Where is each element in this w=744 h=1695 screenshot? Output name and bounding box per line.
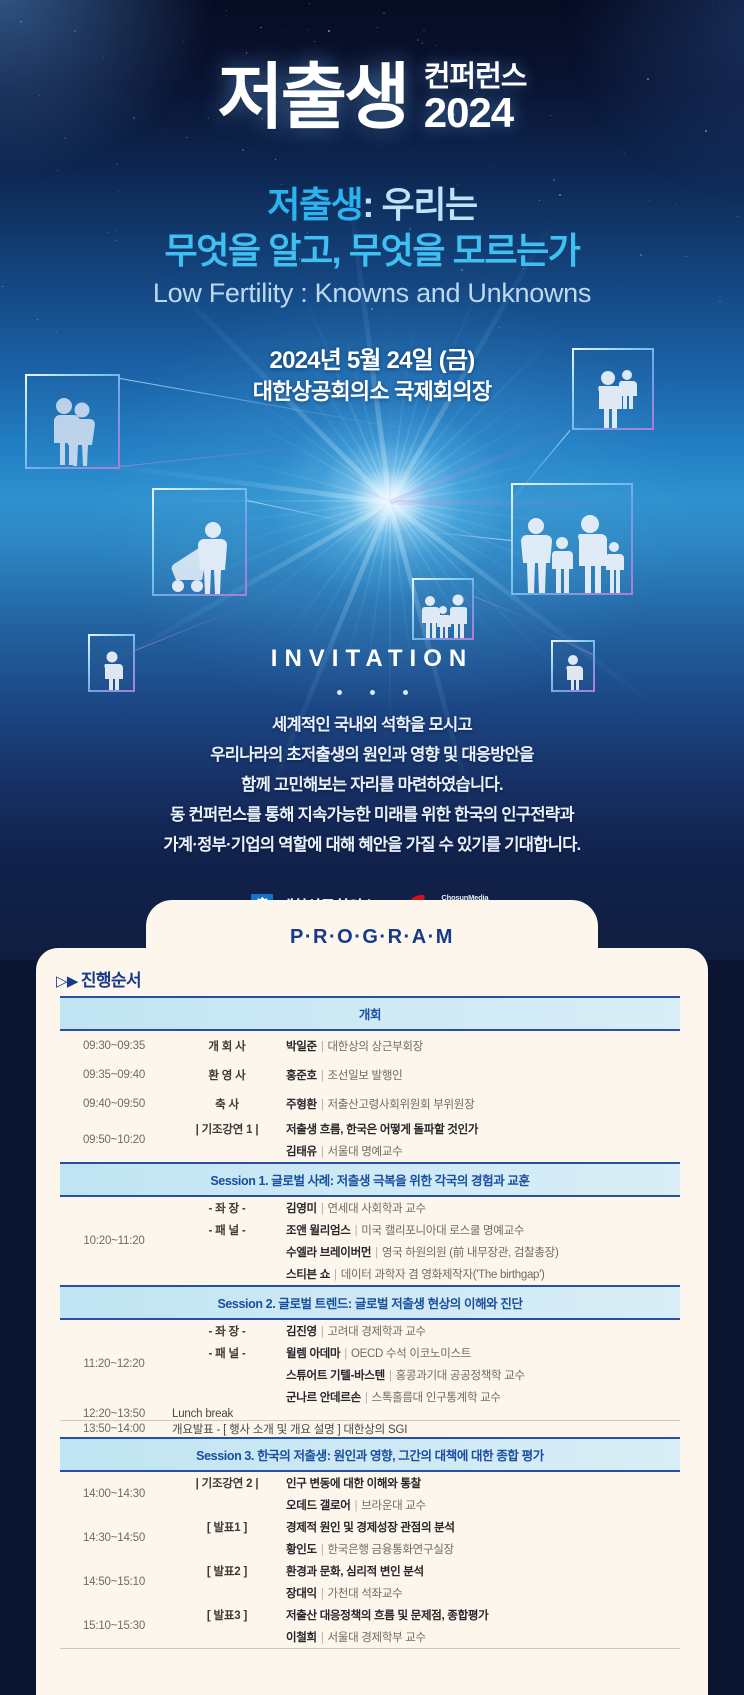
table-row: 09:35~09:40환 영 사홍준호|조선일보 발행인 — [60, 1060, 680, 1089]
separator: | — [321, 1070, 324, 1082]
program-detail: 군나르 안데르손|스톡홀름대 인구통계학 교수 — [286, 1386, 680, 1408]
table-row: 14:50~15:10[ 발표2 ]환경과 문화, 심리적 변인 분석 — [60, 1560, 680, 1582]
poster-subtitle: 저출생: 우리는 무엇을 알고, 무엇을 모르는가 Low Fertility … — [0, 182, 744, 309]
program-role: 개 회 사 — [168, 1031, 286, 1060]
session-band: 개회 — [60, 998, 680, 1029]
table-row: 14:30~14:50[ 발표1 ]경제적 원인 및 경제성장 관점의 분석 — [60, 1516, 680, 1538]
program-detail: 경제적 원인 및 경제성장 관점의 분석 — [286, 1516, 680, 1538]
program-role: 축 사 — [168, 1089, 286, 1118]
program-role-blank — [168, 1140, 286, 1162]
speaker-name: 김영미 — [286, 1203, 317, 1215]
program-role: | 기조강연 1 | — [168, 1118, 286, 1140]
program-role-blank — [168, 1582, 286, 1604]
session-band: Session 1. 글로벌 사례: 저출생 극복을 위한 각국의 경험과 교훈 — [60, 1164, 680, 1195]
event-venue: 대한상공회의소 국제회의장 — [0, 377, 744, 407]
invitation-line: 우리나라의 초저출생의 원인과 영향 및 대응방안을 — [0, 741, 744, 765]
speaker-name: 장대익 — [286, 1588, 317, 1600]
separator: | — [321, 1041, 324, 1053]
speaker-affiliation: 스톡홀름대 인구통계학 교수 — [372, 1392, 501, 1404]
program-detail: 환경과 문화, 심리적 변인 분석 — [286, 1560, 680, 1582]
subtitle-line2: 무엇을 알고, 무엇을 모르는가 — [0, 228, 744, 274]
program-role: [ 발표1 ] — [168, 1516, 286, 1538]
invitation-line: 동 컨퍼런스를 통해 지속가능한 미래를 위한 한국의 인구전략과 — [0, 801, 744, 825]
program-time: 09:50~10:20 — [60, 1118, 168, 1162]
table-row: 13:50~14:00개요발표 - [ 행사 소개 및 개요 설명 ] 대한상의… — [60, 1421, 680, 1437]
program-time: 13:50~14:00 — [60, 1421, 168, 1437]
subtitle-line1-rest: : 우리는 — [362, 184, 476, 225]
program-role — [168, 1386, 286, 1408]
table-row: 12:20~13:50Lunch break — [60, 1408, 680, 1420]
program-detail: 이철희|서울대 경제학부 교수 — [286, 1626, 680, 1648]
speaker-affiliation: 서울대 명예교수 — [328, 1146, 403, 1158]
separator: | — [321, 1203, 324, 1215]
program-role: - 패 널 - — [168, 1219, 286, 1241]
section-arrow-icon: ▷▶ — [56, 973, 78, 990]
program-detail: 황인도|한국은행 금융통화연구실장 — [286, 1538, 680, 1560]
session-band-label: Session 2. 글로벌 트렌드: 글로벌 저출생 현상의 이해와 진단 — [60, 1287, 680, 1318]
session-band-label: Session 1. 글로벌 사례: 저출생 극복을 위한 각국의 경험과 교훈 — [60, 1164, 680, 1195]
title-main: 저출생 — [218, 62, 408, 134]
separator: | — [321, 1588, 324, 1600]
table-divider — [60, 1648, 680, 1649]
separator: | — [321, 1632, 324, 1644]
program-role — [168, 1241, 286, 1263]
speaker-affiliation: 한국은행 금융통화연구실장 — [328, 1544, 454, 1556]
program-simple-text: 개요발표 - [ 행사 소개 및 개요 설명 ] 대한상의 SGI — [168, 1421, 680, 1437]
program-role: - 패 널 - — [168, 1342, 286, 1364]
invitation-line: 세계적인 국내외 석학을 모시고 — [0, 711, 744, 735]
speaker-affiliation: 가천대 석좌교수 — [328, 1588, 403, 1600]
program-panel-title: P·R·O·G·R·A·M — [146, 926, 598, 949]
program-title: 경제적 원인 및 경제성장 관점의 분석 — [286, 1522, 455, 1534]
program-title: 저출생 흐름, 한국은 어떻게 돌파할 것인가 — [286, 1124, 478, 1136]
speaker-affiliation: 브라운대 교수 — [361, 1500, 426, 1512]
table-row: 10:20~11:20- 좌 장 -김영미|연세대 사회학과 교수 — [60, 1197, 680, 1219]
separator: | — [365, 1392, 368, 1404]
speaker-affiliation: 영국 하원의원 (前 내무장관, 검찰총장) — [382, 1247, 559, 1259]
frame-family-three — [412, 578, 474, 640]
table-row: 11:20~12:20- 좌 장 -김진영|고려대 경제학과 교수 — [60, 1320, 680, 1342]
invitation-line: 가계·정부·기업의 역할에 대해 혜안을 가질 수 있기를 기대합니다. — [0, 831, 744, 855]
speaker-name: 황인도 — [286, 1544, 317, 1556]
speaker-affiliation: 미국 캘리포니아대 로스쿨 명예교수 — [361, 1225, 524, 1237]
program-time: 14:00~14:30 — [60, 1472, 168, 1516]
invitation-heading: INVITATION — [0, 645, 744, 673]
speaker-name: 스튜어트 기텔-바스텐 — [286, 1370, 385, 1382]
separator: | — [375, 1247, 378, 1259]
program-detail: 저출생 흐름, 한국은 어떻게 돌파할 것인가 — [286, 1118, 680, 1140]
program-detail: 스튜어트 기텔-바스텐|홍콩과기대 공공정책학 교수 — [286, 1364, 680, 1386]
program-detail: 김영미|연세대 사회학과 교수 — [286, 1197, 680, 1219]
subtitle-keyword: 저출생 — [267, 184, 362, 225]
speaker-name: 스티븐 쇼 — [286, 1269, 330, 1281]
speaker-affiliation: 고려대 경제학과 교수 — [328, 1326, 426, 1338]
program-detail: 김진영|고려대 경제학과 교수 — [286, 1320, 680, 1342]
invitation-block: INVITATION 세계적인 국내외 석학을 모시고우리나라의 초저출생의 원… — [0, 645, 744, 861]
session-band: Session 3. 한국의 저출생: 원인과 영향, 그간의 대책에 대한 종… — [60, 1439, 680, 1470]
session-band: Session 2. 글로벌 트렌드: 글로벌 저출생 현상의 이해와 진단 — [60, 1287, 680, 1318]
program-detail: 박일준|대한상의 상근부회장 — [286, 1031, 680, 1060]
table-row: 09:40~09:50축 사주형환|저출산고령사회위원회 부위원장 — [60, 1089, 680, 1118]
speaker-name: 군나르 안데르손 — [286, 1392, 361, 1404]
event-date: 2024년 5월 24일 (금) — [0, 345, 744, 377]
program-detail: 스티븐 쇼|데이터 과학자 겸 영화제작자('The birthgap') — [286, 1263, 680, 1285]
separator: | — [355, 1225, 358, 1237]
program-detail: 인구 변동에 대한 이해와 통찰 — [286, 1472, 680, 1494]
program-time: 11:20~12:20 — [60, 1320, 168, 1408]
program-role — [168, 1364, 286, 1386]
program-role: [ 발표2 ] — [168, 1560, 286, 1582]
speaker-affiliation: 홍콩과기대 공공정책학 교수 — [396, 1370, 525, 1382]
program-title: 인구 변동에 대한 이해와 통찰 — [286, 1478, 421, 1490]
program-title: 환경과 문화, 심리적 변인 분석 — [286, 1566, 424, 1578]
program-table: 개회09:30~09:35개 회 사박일준|대한상의 상근부회장09:35~09… — [60, 996, 680, 1649]
program-title: 저출산 대응정책의 흐름 및 문제점, 종합평가 — [286, 1610, 488, 1622]
hero-background: 저출생 컨퍼런스 2024 저출생: 우리는 무엇을 알고, 무엇을 모르는가 … — [0, 0, 744, 960]
program-detail: 윌렘 아데마|OECD 수석 이코노미스트 — [286, 1342, 680, 1364]
speaker-name: 윌렘 아데마 — [286, 1348, 340, 1360]
program-detail: 오데드 갤로어|브라운대 교수 — [286, 1494, 680, 1516]
table-row: 09:30~09:35개 회 사박일준|대한상의 상근부회장 — [60, 1031, 680, 1060]
program-section-heading: ▷▶진행순서 — [56, 966, 141, 991]
speaker-affiliation: 연세대 사회학과 교수 — [328, 1203, 426, 1215]
program-detail: 김태유|서울대 명예교수 — [286, 1140, 680, 1162]
session-band-label: 개회 — [60, 998, 680, 1029]
speaker-affiliation: 데이터 과학자 겸 영화제작자('The birthgap') — [341, 1269, 545, 1281]
speaker-affiliation: 대한상의 상근부회장 — [328, 1041, 423, 1053]
speaker-name: 홍준호 — [286, 1070, 317, 1082]
separator: | — [334, 1269, 337, 1281]
speaker-name: 박일준 — [286, 1041, 317, 1053]
program-detail: 주형환|저출산고령사회위원회 부위원장 — [286, 1089, 680, 1118]
program-detail: 저출산 대응정책의 흐름 및 문제점, 종합평가 — [286, 1604, 680, 1626]
speaker-name: 주형환 — [286, 1099, 317, 1111]
program-role: - 좌 장 - — [168, 1197, 286, 1219]
program-role: [ 발표3 ] — [168, 1604, 286, 1626]
invitation-dots — [0, 682, 744, 700]
table-row: 09:50~10:20| 기조강연 1 |저출생 흐름, 한국은 어떻게 돌파할… — [60, 1118, 680, 1140]
section-heading-label: 진행순서 — [81, 971, 141, 990]
event-date-venue: 2024년 5월 24일 (금) 대한상공회의소 국제회의장 — [0, 345, 744, 407]
program-time: 14:30~14:50 — [60, 1516, 168, 1560]
session-band-label: Session 3. 한국의 저출생: 원인과 영향, 그간의 대책에 대한 종… — [60, 1439, 680, 1470]
program-role-blank — [168, 1494, 286, 1516]
program-role-blank — [168, 1538, 286, 1560]
program-time: 14:50~15:10 — [60, 1560, 168, 1604]
program-simple-text: Lunch break — [168, 1408, 680, 1420]
separator: | — [321, 1544, 324, 1556]
subtitle-english: Low Fertility : Knowns and Unknowns — [0, 278, 744, 309]
speaker-name: 오데드 갤로어 — [286, 1500, 351, 1512]
invitation-line: 함께 고민해보는 자리를 마련하였습니다. — [0, 771, 744, 795]
speaker-affiliation: 저출산고령사회위원회 부위원장 — [328, 1099, 475, 1111]
poster-root: 저출생 컨퍼런스 2024 저출생: 우리는 무엇을 알고, 무엇을 모르는가 … — [0, 0, 744, 1695]
speaker-affiliation: OECD 수석 이코노미스트 — [351, 1348, 471, 1360]
program-role: 환 영 사 — [168, 1060, 286, 1089]
poster-title: 저출생 컨퍼런스 2024 — [0, 62, 744, 134]
speaker-name: 수엘라 브레이버먼 — [286, 1247, 371, 1259]
frame-stroller — [152, 488, 247, 596]
separator: | — [389, 1370, 392, 1382]
speaker-name: 김태유 — [286, 1146, 317, 1158]
program-time: 09:40~09:50 — [60, 1089, 168, 1118]
program-role: | 기조강연 2 | — [168, 1472, 286, 1494]
program-time: 09:35~09:40 — [60, 1060, 168, 1089]
separator: | — [321, 1099, 324, 1111]
speaker-affiliation: 조선일보 발행인 — [328, 1070, 403, 1082]
program-detail: 조앤 윌리엄스|미국 캘리포니아대 로스쿨 명예교수 — [286, 1219, 680, 1241]
speaker-name: 김진영 — [286, 1326, 317, 1338]
program-time: 12:20~13:50 — [60, 1408, 168, 1420]
table-row: 15:10~15:30[ 발표3 ]저출산 대응정책의 흐름 및 문제점, 종합… — [60, 1604, 680, 1626]
frame-family-four — [511, 483, 633, 595]
program-time: 09:30~09:35 — [60, 1031, 168, 1060]
separator: | — [321, 1326, 324, 1338]
program-role — [168, 1263, 286, 1285]
program-detail: 장대익|가천대 석좌교수 — [286, 1582, 680, 1604]
program-time: 15:10~15:30 — [60, 1604, 168, 1648]
program-detail: 홍준호|조선일보 발행인 — [286, 1060, 680, 1089]
title-year: 2024 — [424, 89, 513, 136]
program-role: - 좌 장 - — [168, 1320, 286, 1342]
separator: | — [321, 1146, 324, 1158]
program-role-blank — [168, 1626, 286, 1648]
invitation-body: 세계적인 국내외 석학을 모시고우리나라의 초저출생의 원인과 영향 및 대응방… — [0, 711, 744, 855]
table-row: 14:00~14:30| 기조강연 2 |인구 변동에 대한 이해와 통찰 — [60, 1472, 680, 1494]
separator: | — [344, 1348, 347, 1360]
program-time: 10:20~11:20 — [60, 1197, 168, 1285]
separator: | — [355, 1500, 358, 1512]
speaker-name: 이철희 — [286, 1632, 317, 1644]
program-detail: 수엘라 브레이버먼|영국 하원의원 (前 내무장관, 검찰총장) — [286, 1241, 680, 1263]
speaker-name: 조앤 윌리엄스 — [286, 1225, 351, 1237]
speaker-affiliation: 서울대 경제학부 교수 — [328, 1632, 426, 1644]
